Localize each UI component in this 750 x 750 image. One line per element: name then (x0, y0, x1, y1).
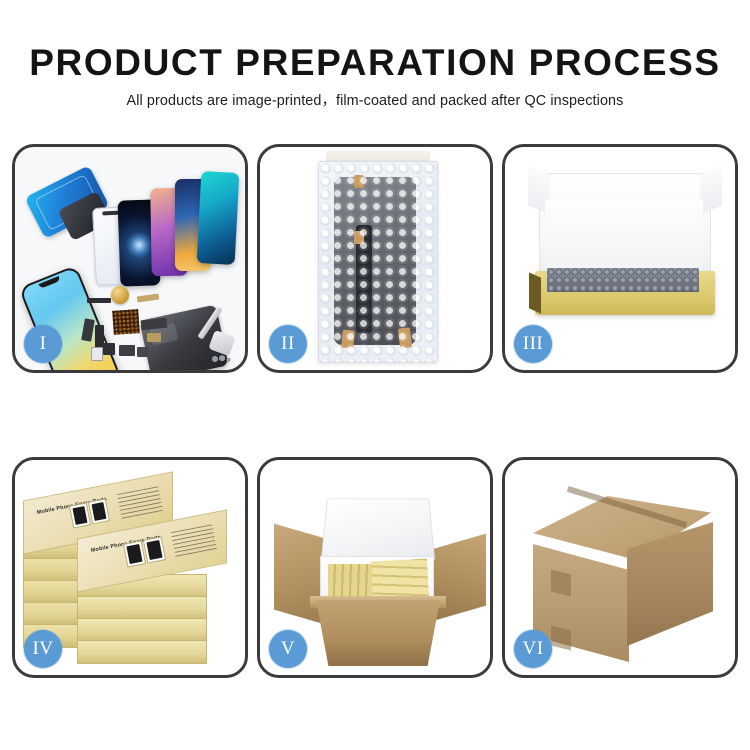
process-step-card-6[interactable]: VI (502, 457, 738, 678)
process-step-card-3[interactable]: III (502, 144, 738, 373)
step-badge-6: VI (514, 630, 552, 668)
process-steps-grid: I II (12, 144, 738, 678)
process-step-card-2[interactable]: II (257, 144, 493, 373)
process-step-card-5[interactable]: V (257, 457, 493, 678)
step-badge-2: II (269, 325, 307, 363)
step-badge-5: V (269, 630, 307, 668)
product-preparation-process-page: PRODUCT PREPARATION PROCESS All products… (0, 0, 750, 750)
step-badge-1: I (24, 325, 62, 363)
step-badge-3: III (514, 325, 552, 363)
step-badge-4: IV (24, 630, 62, 668)
process-step-card-4[interactable]: Mobile Phone Spare Parts Mobile Phone Sp… (12, 457, 248, 678)
page-subtitle: All products are image-printed，film-coat… (0, 89, 750, 110)
page-title: PRODUCT PREPARATION PROCESS (0, 44, 750, 81)
process-step-card-1[interactable]: I (12, 144, 248, 373)
